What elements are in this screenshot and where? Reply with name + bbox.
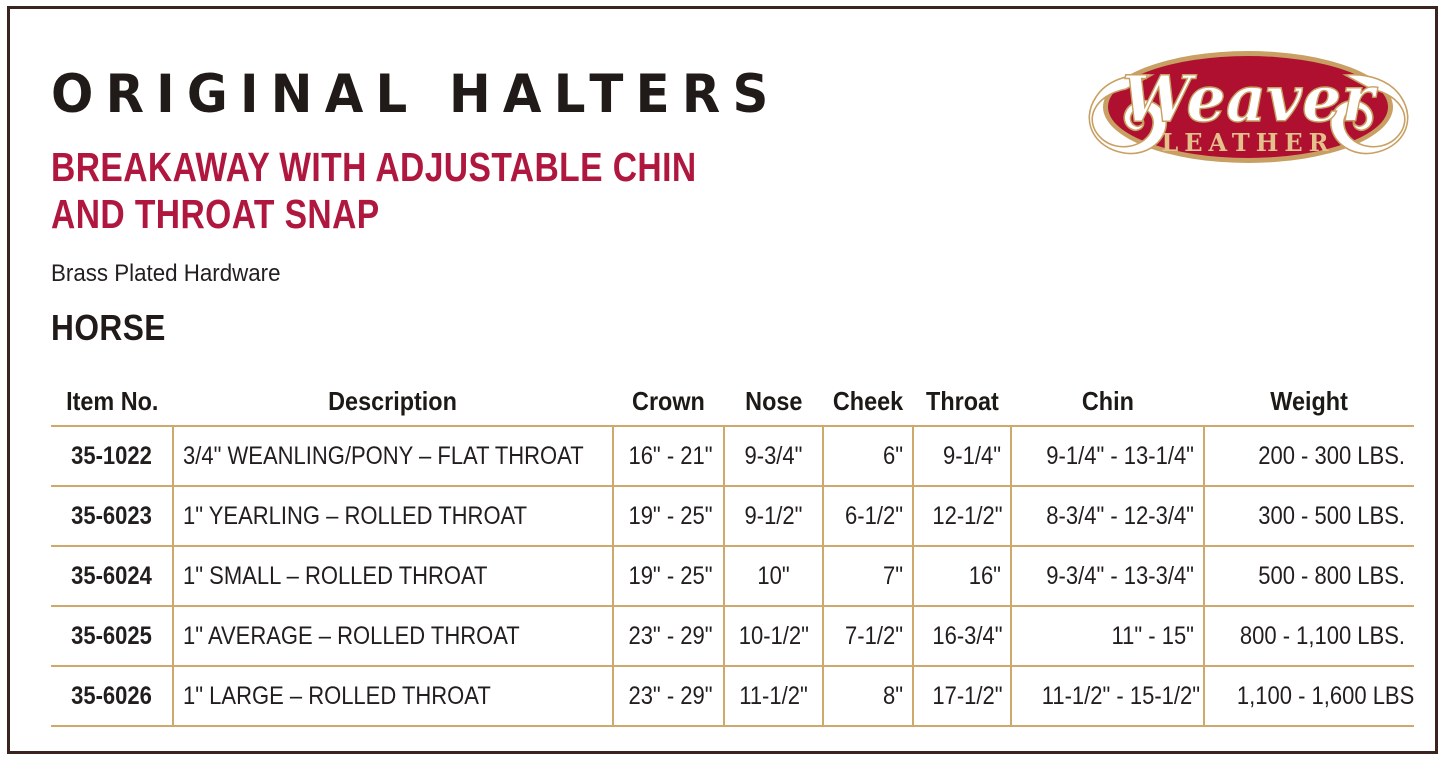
cell-weight: 300 - 500 LBS. — [1204, 486, 1414, 546]
cell-crown: 23" - 29" — [613, 606, 724, 666]
cell-throat: 16-3/4" — [913, 606, 1011, 666]
column-header-weight: Weight — [1204, 386, 1414, 426]
column-header-throat: Throat — [913, 386, 1011, 426]
column-header-nose: Nose — [724, 386, 823, 426]
cell-nose: 9-1/2" — [724, 486, 823, 546]
cell-chin: 9-1/4" - 13-1/4" — [1011, 426, 1204, 486]
page-inner: ORIGINAL HALTERS BREAKAWAY WITH ADJUSTAB… — [10, 9, 1435, 751]
cell-weight: 500 - 800 LBS. — [1204, 546, 1414, 606]
cell-description: 1" SMALL – ROLLED THROAT — [173, 546, 613, 606]
cell-cheek: 6" — [823, 426, 913, 486]
hardware-note: Brass Plated Hardware — [51, 260, 814, 288]
cell-description: 1" LARGE – ROLLED THROAT — [173, 666, 613, 726]
table-row: 35-6025 1" AVERAGE – ROLLED THROAT 23" -… — [51, 606, 1414, 666]
cell-weight: 1,100 - 1,600 LBS. — [1204, 666, 1414, 726]
title-block: ORIGINAL HALTERS BREAKAWAY WITH ADJUSTAB… — [51, 65, 871, 348]
cell-crown: 19" - 25" — [613, 546, 724, 606]
column-header-chin: Chin — [1011, 386, 1204, 426]
logo-artwork: Weaver LEATHER — [1076, 29, 1421, 181]
cell-description: 3/4" WEANLING/PONY – FLAT THROAT — [173, 426, 613, 486]
cell-crown: 16" - 21" — [613, 426, 724, 486]
table-header-row: Item No. Description Crown Nose Cheek Th… — [51, 386, 1414, 426]
cell-cheek: 8" — [823, 666, 913, 726]
cell-chin: 9-3/4" - 13-3/4" — [1011, 546, 1204, 606]
cell-item-no: 35-6026 — [51, 666, 173, 726]
page-title: ORIGINAL HALTERS — [51, 65, 822, 125]
cell-crown: 19" - 25" — [613, 486, 724, 546]
cell-nose: 10-1/2" — [724, 606, 823, 666]
cell-cheek: 7-1/2" — [823, 606, 913, 666]
cell-item-no: 35-6024 — [51, 546, 173, 606]
cell-chin: 11-1/2" - 15-1/2" — [1011, 666, 1204, 726]
table-row: 35-6024 1" SMALL – ROLLED THROAT 19" - 2… — [51, 546, 1414, 606]
table-row: 35-1022 3/4" WEANLING/PONY – FLAT THROAT… — [51, 426, 1414, 486]
cell-item-no: 35-1022 — [51, 426, 173, 486]
cell-chin: 11" - 15" — [1011, 606, 1204, 666]
column-header-crown: Crown — [613, 386, 724, 426]
page-frame: ORIGINAL HALTERS BREAKAWAY WITH ADJUSTAB… — [7, 6, 1438, 754]
cell-weight: 800 - 1,100 LBS. — [1204, 606, 1414, 666]
cell-throat: 12-1/2" — [913, 486, 1011, 546]
column-header-item-no: Item No. — [51, 386, 173, 426]
cell-item-no: 35-6025 — [51, 606, 173, 666]
table-row: 35-6026 1" LARGE – ROLLED THROAT 23" - 2… — [51, 666, 1414, 726]
column-header-cheek: Cheek — [823, 386, 913, 426]
weaver-leather-logo: Weaver LEATHER — [1076, 29, 1421, 181]
halter-spec-table: Item No. Description Crown Nose Cheek Th… — [51, 386, 1414, 727]
page-subtitle: BREAKAWAY WITH ADJUSTABLE CHIN AND THROA… — [51, 144, 723, 238]
column-header-description: Description — [173, 386, 613, 426]
catalog-page: ORIGINAL HALTERS BREAKAWAY WITH ADJUSTAB… — [0, 0, 1445, 761]
cell-description: 1" YEARLING – ROLLED THROAT — [173, 486, 613, 546]
cell-throat: 16" — [913, 546, 1011, 606]
logo-subbrand-text: LEATHER — [1161, 128, 1334, 157]
cell-throat: 17-1/2" — [913, 666, 1011, 726]
cell-cheek: 6-1/2" — [823, 486, 913, 546]
logo-brand-text: Weaver — [1122, 61, 1378, 136]
cell-item-no: 35-6023 — [51, 486, 173, 546]
cell-description: 1" AVERAGE – ROLLED THROAT — [173, 606, 613, 666]
cell-weight: 200 - 300 LBS. — [1204, 426, 1414, 486]
cell-crown: 23" - 29" — [613, 666, 724, 726]
cell-throat: 9-1/4" — [913, 426, 1011, 486]
cell-cheek: 7" — [823, 546, 913, 606]
table-header: Item No. Description Crown Nose Cheek Th… — [51, 386, 1414, 426]
cell-nose: 11-1/2" — [724, 666, 823, 726]
cell-nose: 10" — [724, 546, 823, 606]
cell-nose: 9-3/4" — [724, 426, 823, 486]
section-title: HORSE — [51, 308, 773, 348]
table-body: 35-1022 3/4" WEANLING/PONY – FLAT THROAT… — [51, 426, 1414, 726]
table-row: 35-6023 1" YEARLING – ROLLED THROAT 19" … — [51, 486, 1414, 546]
cell-chin: 8-3/4" - 12-3/4" — [1011, 486, 1204, 546]
